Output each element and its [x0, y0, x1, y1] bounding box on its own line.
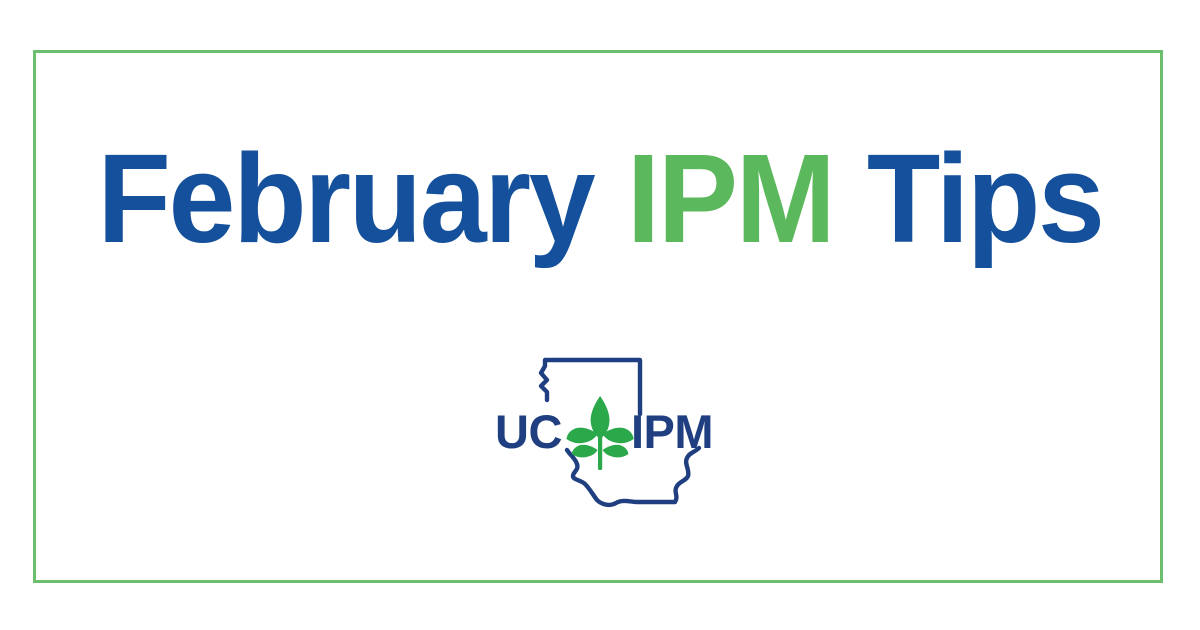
title-word-tips: Tips: [867, 128, 1103, 269]
title-space-2: [833, 128, 866, 269]
logo-text-uc: UC: [495, 405, 562, 458]
title-word-ipm: IPM: [627, 128, 834, 269]
logo-text-ipm: IPM: [631, 405, 713, 458]
poster-canvas: February IPM Tips: [0, 0, 1200, 630]
title-word-month: February: [97, 128, 593, 269]
page-title: February IPM Tips: [27, 136, 1173, 262]
title-space-1: [593, 128, 626, 269]
uc-ipm-logo: UC IPM: [487, 352, 713, 510]
